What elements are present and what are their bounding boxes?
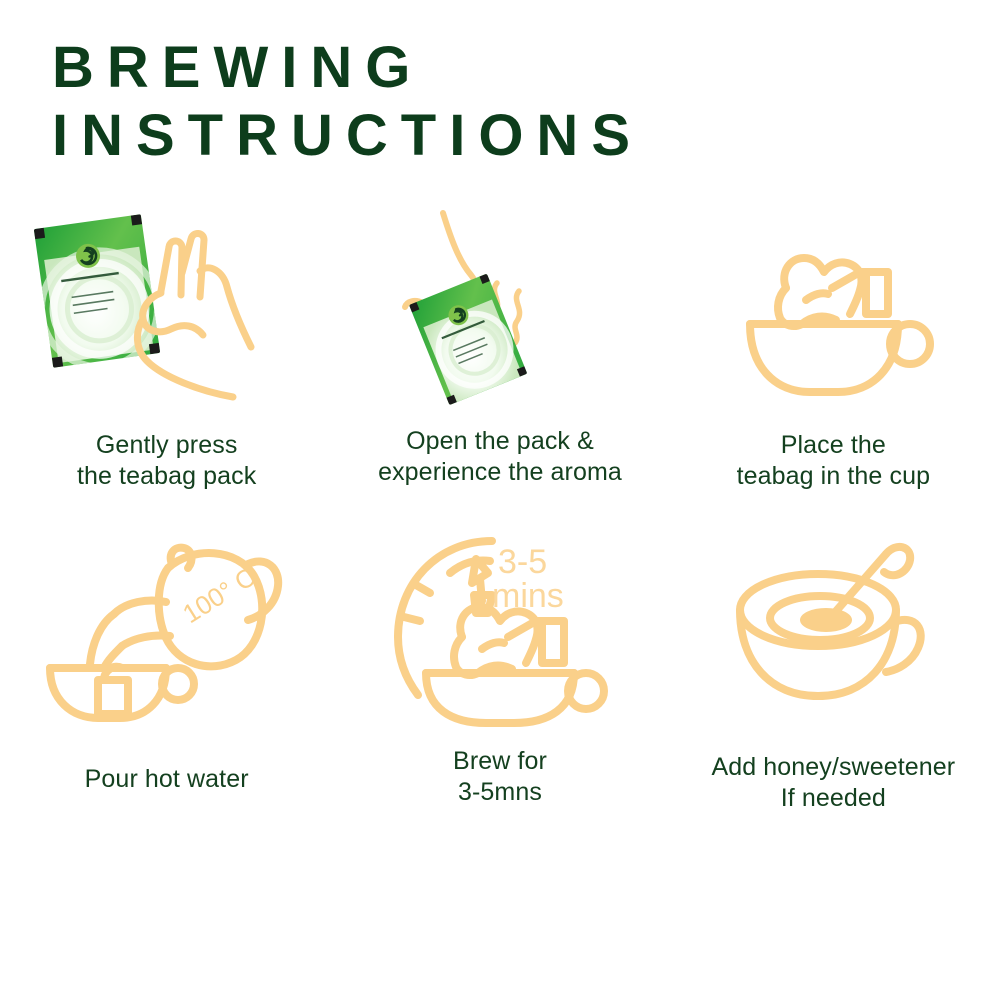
step-item-5: 3-5 mins Brew for 3-5mns (333, 510, 666, 815)
teapot-pouring-water-icon: 100° C (42, 528, 292, 723)
step-item-2: Open the pack & experience the aroma (333, 205, 666, 510)
nose-smelling-open-pack-icon (385, 205, 615, 420)
step-item-1: Gently press the teabag pack (0, 205, 333, 510)
page-title: BREWING INSTRUCTIONS (52, 34, 952, 170)
step-5-caption: Brew for 3-5mns (453, 746, 547, 808)
step-2-caption: Open the pack & experience the aroma (378, 426, 622, 488)
brewing-instructions-page: BREWING INSTRUCTIONS (0, 0, 1000, 1000)
brew-time-badge-line-2: mins (492, 577, 564, 615)
hand-placing-teabag-in-cup-icon (728, 228, 938, 398)
step-3-caption: Place the teabag in the cup (737, 430, 931, 492)
hand-pressing-teabag-pack-icon (37, 213, 297, 413)
step-4-illustration: 100° C (17, 510, 317, 740)
timer-brewing-cup-icon: 3-5 mins (380, 525, 620, 725)
step-item-3: Place the teabag in the cup (667, 205, 1000, 510)
step-3-illustration (683, 205, 983, 420)
step-6-illustration (683, 510, 983, 740)
step-4-caption: Pour hot water (85, 764, 249, 795)
cup-with-spoon-stirring-icon (726, 538, 941, 713)
step-5-illustration: 3-5 mins (350, 510, 650, 740)
step-6-caption: Add honey/sweetener If needed (711, 752, 955, 814)
brew-time-badge-line-1: 3-5 (498, 543, 547, 581)
step-1-illustration (17, 205, 317, 420)
step-1-caption: Gently press the teabag pack (77, 430, 256, 492)
page-title-line-1: BREWING (52, 34, 952, 102)
step-item-6: Add honey/sweetener If needed (667, 510, 1000, 815)
steps-grid: Gently press the teabag pack (0, 205, 1000, 815)
step-2-illustration (350, 205, 650, 420)
page-title-line-2: INSTRUCTIONS (52, 102, 952, 170)
step-item-4: 100° C Pour hot water (0, 510, 333, 815)
